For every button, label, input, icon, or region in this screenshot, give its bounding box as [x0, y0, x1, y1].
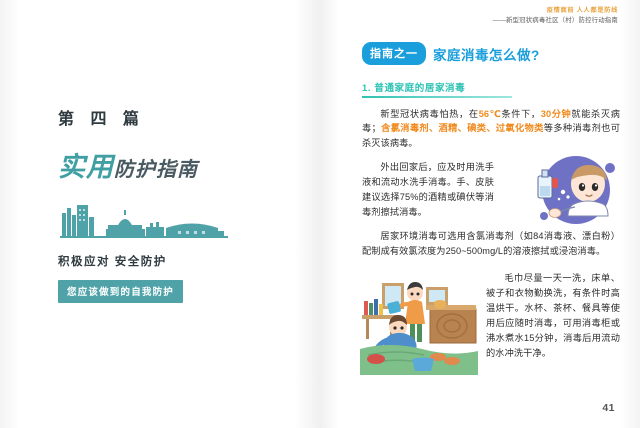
- home-cleaning-block: 毛巾尽量一天一洗，床单、被子和衣物勤换洗，有条件时高温烘干。水杯、茶杯、餐具等使…: [362, 271, 620, 375]
- chapter-title-accent: 实用: [58, 152, 114, 182]
- paragraph-disinfectant: 居家环境消毒可选用含氯消毒剂（如84消毒液、漂白粉）配制成有效氯浓度为250~5…: [362, 229, 620, 259]
- guide-title: 家庭消毒怎么做?: [433, 44, 540, 64]
- p1-highlight-temp: 56℃: [479, 109, 502, 119]
- chapter-tagline: 积极应对 安全防护: [58, 253, 273, 269]
- header-slogan: 疫情面前 人人都是防线: [493, 7, 618, 15]
- header-subtitle: ——新型冠状病毒社区（村）防控行动指南: [493, 17, 618, 26]
- page-number: 41: [602, 402, 615, 414]
- home-cleaning-illustration: [360, 271, 478, 375]
- running-header: 疫情面前 人人都是防线 ——新型冠状病毒社区（村）防控行动指南: [493, 7, 618, 26]
- section-heading-group: 1. 普通家庭的居家消毒: [362, 80, 620, 98]
- chapter-opener: 第 四 篇 实用防护指南: [58, 112, 273, 303]
- chapter-number: 第 四 篇: [58, 112, 273, 128]
- paragraph-handwash: 外出回家后，应及时用洗手液和流动水洗手消毒。手、皮肤建议选择75%的酒精或碘伏等…: [362, 160, 494, 220]
- section-heading: 1. 普通家庭的居家消毒: [362, 80, 620, 94]
- p1-highlight-time: 30分钟: [541, 109, 572, 119]
- chapter-title: 实用防护指南: [58, 154, 273, 181]
- book-spread: 疫情面前 人人都是防线 ——新型冠状病毒社区（村）防控行动指南 第 四 篇 实用…: [0, 0, 640, 428]
- handwashing-sanitizer-illustration: [514, 154, 626, 230]
- p1-highlight-agents: 含氯消毒剂、酒精、碘类、过氧化物类: [381, 123, 544, 133]
- chapter-title-rest: 防护指南: [114, 159, 198, 181]
- section-underline: [362, 96, 512, 98]
- p1-seg2: 条件下，: [501, 109, 540, 119]
- self-protection-badge: 您应该做到的自我防护: [58, 280, 183, 303]
- p1-seg1: 新型冠状病毒怕热，在: [380, 109, 478, 119]
- paragraph-virus-heat: 新型冠状病毒怕热，在56℃条件下，30分钟就能杀灭病毒；含氯消毒剂、酒精、碘类、…: [362, 107, 620, 152]
- paragraph-towels-utensils: 毛巾尽量一天一洗，床单、被子和衣物勤换洗，有条件时高温烘干。水杯、茶杯、餐具等使…: [486, 271, 620, 360]
- handwash-block: 外出回家后，应及时用洗手液和流动水洗手消毒。手、皮肤建议选择75%的酒精或碘伏等…: [362, 160, 620, 220]
- guide-header: 指南之一 家庭消毒怎么做?: [362, 42, 620, 65]
- guide-badge: 指南之一: [362, 42, 426, 65]
- guide-content: 指南之一 家庭消毒怎么做? 1. 普通家庭的居家消毒 新型冠状病毒怕热，在56℃…: [362, 42, 620, 375]
- city-skyline-icon: [60, 203, 273, 244]
